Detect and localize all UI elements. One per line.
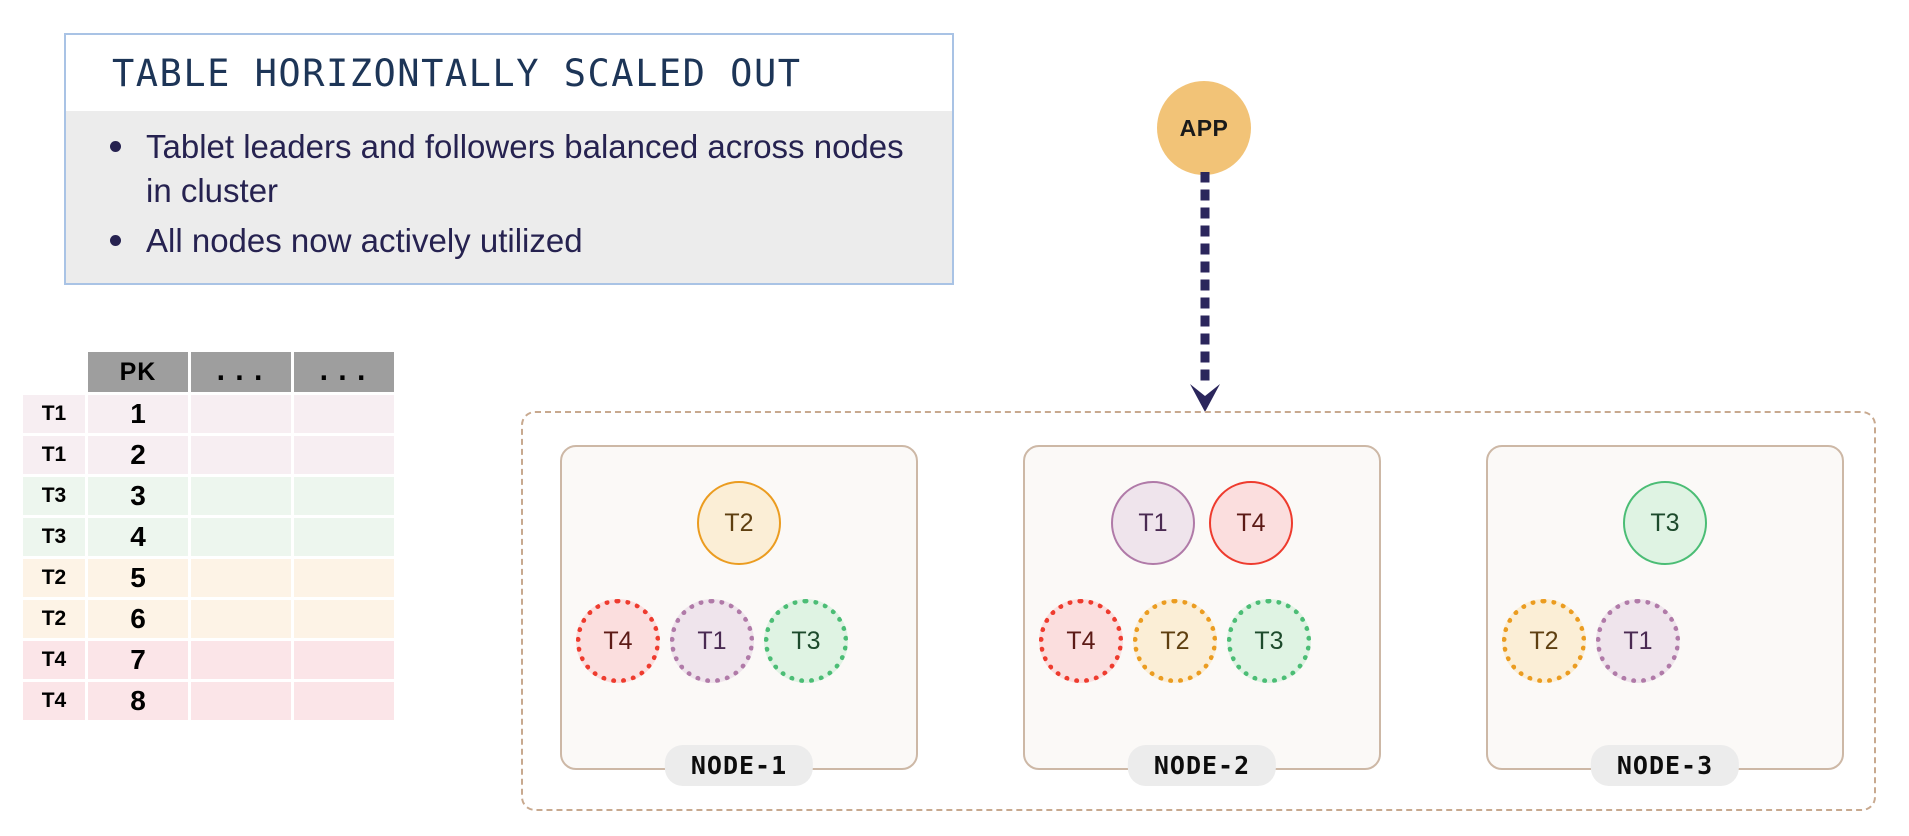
follower-tablets-row: T2T1: [1502, 599, 1680, 683]
cell-pk: 8: [88, 682, 188, 720]
row-tablet-label: T1: [23, 436, 85, 474]
cell-pk: 4: [88, 518, 188, 556]
cell-col2: [191, 559, 291, 597]
tablet-label: T4: [603, 627, 632, 656]
node-box-2[interactable]: T1T4 T4T2T3 NODE-2: [1023, 445, 1381, 770]
leader-tablets-row: T3: [1488, 481, 1842, 565]
node-box-3[interactable]: T3 T2T1 NODE-3: [1486, 445, 1844, 770]
cell-col3: [294, 436, 394, 474]
tablet-leader-t2[interactable]: T2: [697, 481, 781, 565]
cell-pk: 5: [88, 559, 188, 597]
tablet-leader-t3[interactable]: T3: [1623, 481, 1707, 565]
callout-bullet-list: Tablet leaders and followers balanced ac…: [84, 125, 934, 263]
callout-box: TABLE HORIZONTALLY SCALED OUT Tablet lea…: [64, 33, 954, 285]
pk-table: PK ... ... T11T12T33T34T25T26T47T48: [20, 349, 397, 723]
cell-pk: 1: [88, 395, 188, 433]
column-header-ellipsis-1: ...: [191, 352, 291, 392]
table-header-row: PK ... ...: [23, 352, 394, 392]
leader-tablets-row: T1T4: [1025, 481, 1379, 565]
tablet-follower-t1[interactable]: T1: [1596, 599, 1680, 683]
column-header-pk: PK: [88, 352, 188, 392]
list-item: Tablet leaders and followers balanced ac…: [84, 125, 934, 213]
tablet-label: T2: [724, 509, 753, 538]
column-header-ellipsis-2: ...: [294, 352, 394, 392]
bullet-text: Tablet leaders and followers balanced ac…: [146, 128, 904, 209]
list-item: All nodes now actively utilized: [84, 219, 934, 263]
row-tablet-label: T4: [23, 682, 85, 720]
cell-col3: [294, 600, 394, 638]
cell-col3: [294, 518, 394, 556]
node-label-chip: NODE-3: [1591, 745, 1739, 786]
row-tablet-label: T3: [23, 477, 85, 515]
tablet-label: T1: [697, 627, 726, 656]
cell-col2: [191, 477, 291, 515]
tablet-label: T3: [791, 627, 820, 656]
cell-pk: 3: [88, 477, 188, 515]
tablet-label: T1: [1138, 509, 1167, 538]
node-label-chip: NODE-1: [665, 745, 813, 786]
cluster-boundary: T2 T4T1T3 NODE-1 T1T4 T4T2T3 NODE-2 T3 T…: [521, 411, 1876, 811]
cell-col2: [191, 682, 291, 720]
pk-table-container: PK ... ... T11T12T33T34T25T26T47T48: [20, 349, 397, 723]
node-box-1[interactable]: T2 T4T1T3 NODE-1: [560, 445, 918, 770]
cell-col2: [191, 600, 291, 638]
table-row: T33: [23, 477, 394, 515]
tablet-leader-t1[interactable]: T1: [1111, 481, 1195, 565]
app-label: APP: [1180, 115, 1229, 142]
tablet-label: T3: [1254, 627, 1283, 656]
tablet-follower-t4[interactable]: T4: [1039, 599, 1123, 683]
bullet-dot-icon: [110, 235, 121, 246]
row-tablet-label: T3: [23, 518, 85, 556]
cell-pk: 2: [88, 436, 188, 474]
cell-col2: [191, 641, 291, 679]
tablet-label: T4: [1066, 627, 1095, 656]
cell-col3: [294, 559, 394, 597]
tablet-follower-t1[interactable]: T1: [670, 599, 754, 683]
table-row: T34: [23, 518, 394, 556]
table-row: T26: [23, 600, 394, 638]
tablet-follower-t3[interactable]: T3: [764, 599, 848, 683]
follower-tablets-row: T4T1T3: [576, 599, 848, 683]
tablet-label: T2: [1160, 627, 1189, 656]
table-row: T25: [23, 559, 394, 597]
tablet-label: T2: [1529, 627, 1558, 656]
callout-title: TABLE HORIZONTALLY SCALED OUT: [66, 35, 952, 111]
cell-col3: [294, 641, 394, 679]
tablet-leader-t4[interactable]: T4: [1209, 481, 1293, 565]
cell-pk: 7: [88, 641, 188, 679]
cell-col3: [294, 682, 394, 720]
row-tablet-label: T2: [23, 559, 85, 597]
row-tablet-label: T4: [23, 641, 85, 679]
row-tablet-label: T1: [23, 395, 85, 433]
cell-col2: [191, 518, 291, 556]
cell-col3: [294, 395, 394, 433]
table-row: T12: [23, 436, 394, 474]
cell-pk: 6: [88, 600, 188, 638]
tablet-follower-t2[interactable]: T2: [1133, 599, 1217, 683]
table-row: T11: [23, 395, 394, 433]
tablet-label: T4: [1236, 509, 1265, 538]
follower-tablets-row: T4T2T3: [1039, 599, 1311, 683]
row-tablet-label: T2: [23, 600, 85, 638]
node-label-chip: NODE-2: [1128, 745, 1276, 786]
tablet-label: T3: [1650, 509, 1679, 538]
bullet-text: All nodes now actively utilized: [146, 222, 583, 259]
cell-col2: [191, 436, 291, 474]
table-row: T48: [23, 682, 394, 720]
cell-col2: [191, 395, 291, 433]
app-node: APP: [1157, 81, 1251, 175]
bullet-dot-icon: [110, 141, 121, 152]
table-body: T11T12T33T34T25T26T47T48: [23, 395, 394, 720]
tablet-follower-t3[interactable]: T3: [1227, 599, 1311, 683]
table-header: PK ... ...: [23, 352, 394, 392]
callout-body: Tablet leaders and followers balanced ac…: [66, 111, 952, 283]
tablet-label: T1: [1623, 627, 1652, 656]
tablet-follower-t4[interactable]: T4: [576, 599, 660, 683]
app-to-cluster-arrow-icon: [1150, 172, 1260, 412]
table-corner-cell: [23, 352, 85, 392]
leader-tablets-row: T2: [562, 481, 916, 565]
table-row: T47: [23, 641, 394, 679]
cell-col3: [294, 477, 394, 515]
tablet-follower-t2[interactable]: T2: [1502, 599, 1586, 683]
